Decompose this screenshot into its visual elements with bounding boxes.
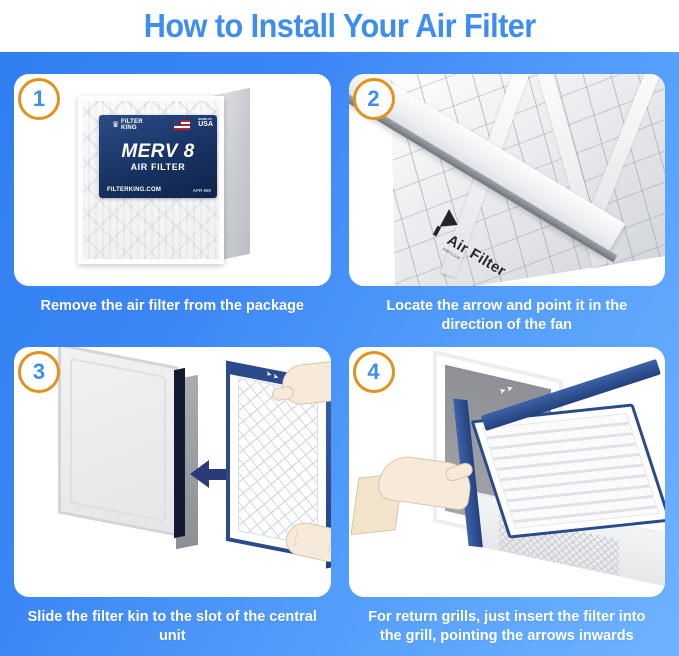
grill-louvers (482, 413, 659, 529)
air-filter-subtitle: AIR FILTER (99, 162, 217, 172)
crown-icon: ♛ (112, 120, 119, 129)
filter-arrow-marking: ➤➤ (266, 369, 280, 382)
brand-line-2: KING (121, 125, 137, 131)
step-4-illustration: ➤➤ (349, 347, 666, 597)
step-1: 1 ♛ FILTERKING MADE INUSA ME (14, 74, 331, 343)
left-arrow-icon (190, 460, 209, 488)
angled-filter-photo: Air FilterAIRFLOW (349, 74, 666, 286)
filter-front-face: ♛ FILTERKING MADE INUSA MERV 8 AIR FILTE… (78, 96, 224, 264)
brand-name: FILTERKING (121, 119, 143, 132)
header-band: How to Install Your Air Filter (0, 0, 679, 52)
step-2-caption: Locate the arrow and point it in the dir… (349, 297, 666, 335)
made-in-usa-text: MADE INUSA (198, 118, 213, 128)
step-1-card: 1 ♛ FILTERKING MADE INUSA ME (14, 74, 331, 286)
filter-product-label: ♛ FILTERKING MADE INUSA MERV 8 AIR FILTE… (99, 115, 217, 198)
merv-rating-text: MERV 8 (99, 141, 217, 163)
step-3-illustration: ➤➤ (14, 347, 331, 597)
brand-line-1: FILTER (121, 119, 143, 125)
steps-grid: 1 ♛ FILTERKING MADE INUSA ME (0, 52, 679, 656)
step-4-caption: For return grills, just insert the filte… (349, 608, 666, 646)
step-4-badge: 4 (353, 351, 395, 393)
air-filter-product-photo: ♛ FILTERKING MADE INUSA MERV 8 AIR FILTE… (74, 86, 264, 274)
step-1-caption: Remove the air filter from the package (14, 297, 331, 316)
apr-code-text: APR 650 (193, 188, 211, 193)
infographic-root: How to Install Your Air Filter 1 ♛ FILTE… (0, 0, 679, 656)
step-4-card: 4 ➤➤ (349, 347, 666, 597)
step-2-illustration: Air FilterAIRFLOW (349, 74, 666, 286)
central-unit-face (58, 347, 178, 537)
website-text: FILTERKING.COM (107, 187, 161, 193)
step-3-card: 3 ➤➤ (14, 347, 331, 597)
step-3-caption: Slide the filter kin to the slot of the … (14, 608, 331, 646)
usa-label: USA (198, 121, 213, 128)
step-4: 4 ➤➤ For return grills, j (349, 347, 666, 646)
central-unit-slot (174, 368, 185, 538)
step-1-illustration: ♛ FILTERKING MADE INUSA MERV 8 AIR FILTE… (14, 74, 331, 286)
step-2-card: 2 Air FilterAIRFLOW (349, 74, 666, 286)
usa-flag-icon (174, 120, 190, 130)
step-1-badge: 1 (18, 78, 60, 120)
step-2: 2 Air FilterAIRFLOW Locate the (349, 74, 666, 343)
step-3-badge: 3 (18, 351, 60, 393)
step-3: 3 ➤➤ (14, 347, 331, 646)
step-2-badge: 2 (353, 78, 395, 120)
page-title: How to Install Your Air Filter (144, 7, 536, 45)
